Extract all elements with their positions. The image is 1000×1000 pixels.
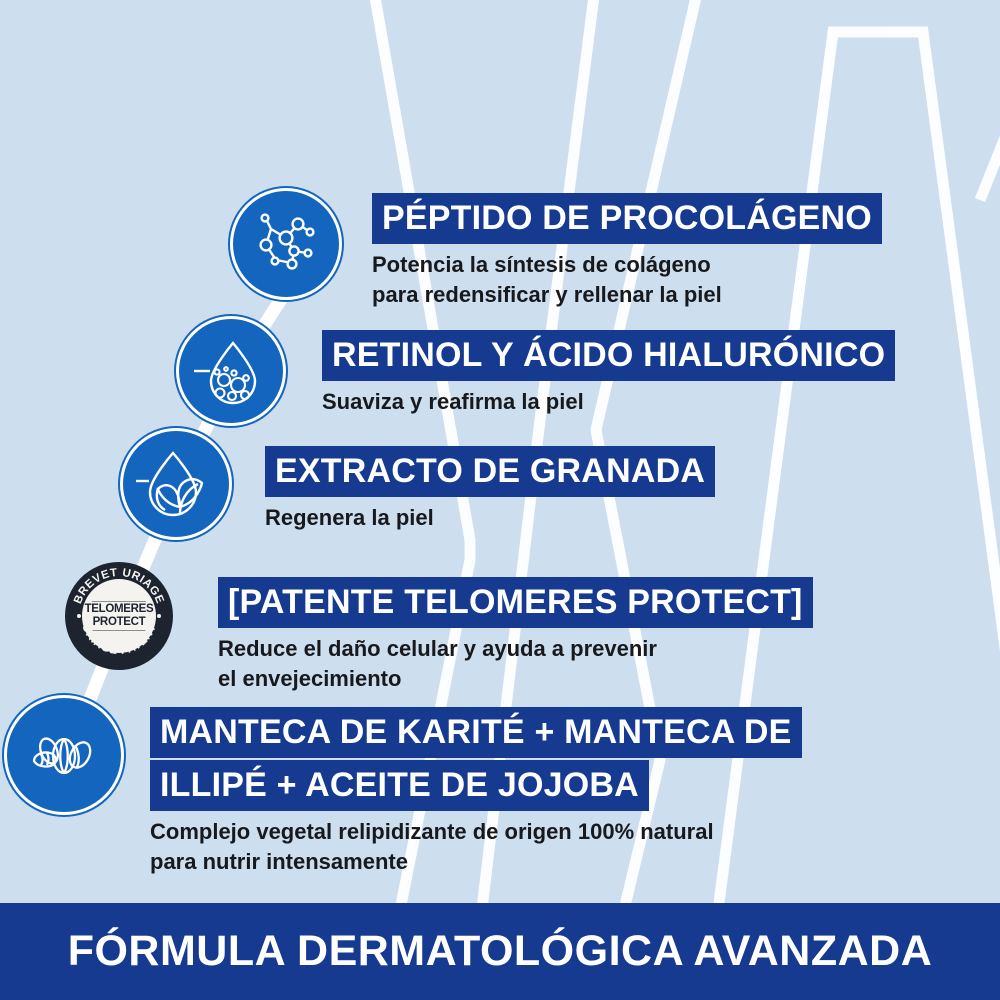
badge-bottom-arc-text: URIAGE PATENT bbox=[79, 622, 159, 657]
ingredient-row-5: MANTECA DE KARITÉ + MANTECA DE ILLIPÉ + … bbox=[150, 707, 802, 876]
footer-banner-text: FÓRMULA DERMATOLÓGICA AVANZADA bbox=[68, 927, 933, 976]
ingredient-desc-1-line-2: para redensificar y rellenar la piel bbox=[372, 281, 722, 310]
ingredient-row-1: PÉPTIDO DE PROCOLÁGENO Potencia la sínte… bbox=[372, 193, 882, 309]
molecule-icon bbox=[249, 207, 323, 281]
footer-banner: FÓRMULA DERMATOLÓGICA AVANZADA bbox=[0, 903, 1000, 1000]
ingredient-headline-1: PÉPTIDO DE PROCOLÁGENO bbox=[372, 193, 882, 244]
ingredient-desc-2-line-1: Suaviza y reafirma la piel bbox=[322, 388, 584, 417]
telomeres-protect-badge-icon: BREVET URIAGE URIAGE PATENT TELOMERES PR… bbox=[65, 562, 173, 670]
ingredient-desc-4-line-2: el envejecimiento bbox=[218, 665, 401, 694]
ingredient-row-2: RETINOL Y ÁCIDO HIALURÓNICO Suaviza y re… bbox=[322, 330, 895, 417]
ingredient-icon-4: BREVET URIAGE URIAGE PATENT TELOMERES PR… bbox=[65, 562, 173, 670]
svg-text:BREVET URIAGE: BREVET URIAGE bbox=[72, 567, 166, 606]
ingredient-row-3: EXTRACTO DE GRANADA Regenera la piel bbox=[265, 446, 715, 533]
ingredient-headline-4: [PATENTE TELOMERES PROTECT] bbox=[218, 577, 813, 628]
ingredient-icon-2 bbox=[176, 316, 286, 426]
ingredient-desc-4-line-1: Reduce el daño celular y ayuda a preveni… bbox=[218, 635, 657, 664]
ingredient-desc-1-line-1: Potencia la síntesis de colágeno bbox=[372, 251, 711, 280]
ingredient-headline-5-line-2: ILLIPÉ + ACEITE DE JOJOBA bbox=[150, 760, 649, 811]
nuts-seeds-icon bbox=[24, 715, 104, 795]
svg-text:URIAGE PATENT: URIAGE PATENT bbox=[79, 622, 159, 657]
ingredient-icon-3 bbox=[120, 428, 232, 540]
infographic-canvas: PÉPTIDO DE PROCOLÁGENO Potencia la sínte… bbox=[0, 0, 1000, 1000]
ingredient-headline-5-line-1: MANTECA DE KARITÉ + MANTECA DE bbox=[150, 707, 802, 758]
droplet-bubbles-icon bbox=[193, 333, 269, 409]
ingredient-row-4: [PATENTE TELOMERES PROTECT] Reduce el da… bbox=[218, 577, 813, 693]
ingredient-headline-3: EXTRACTO DE GRANADA bbox=[265, 446, 715, 497]
ingredient-icon-1 bbox=[230, 188, 342, 300]
ingredient-desc-3-line-1: Regenera la piel bbox=[265, 504, 434, 533]
badge-dot-left bbox=[77, 614, 81, 618]
ingredient-desc-5-line-1: Complejo vegetal relipidizante de origen… bbox=[150, 818, 714, 847]
droplet-leaf-icon bbox=[136, 444, 216, 524]
ingredient-icon-5 bbox=[4, 695, 124, 815]
badge-dot-right bbox=[157, 614, 161, 618]
badge-top-arc-text: BREVET URIAGE bbox=[72, 567, 166, 606]
ingredient-desc-5-line-2: para nutrir intensamente bbox=[150, 848, 408, 877]
ingredient-headline-2: RETINOL Y ÁCIDO HIALURÓNICO bbox=[322, 330, 895, 381]
